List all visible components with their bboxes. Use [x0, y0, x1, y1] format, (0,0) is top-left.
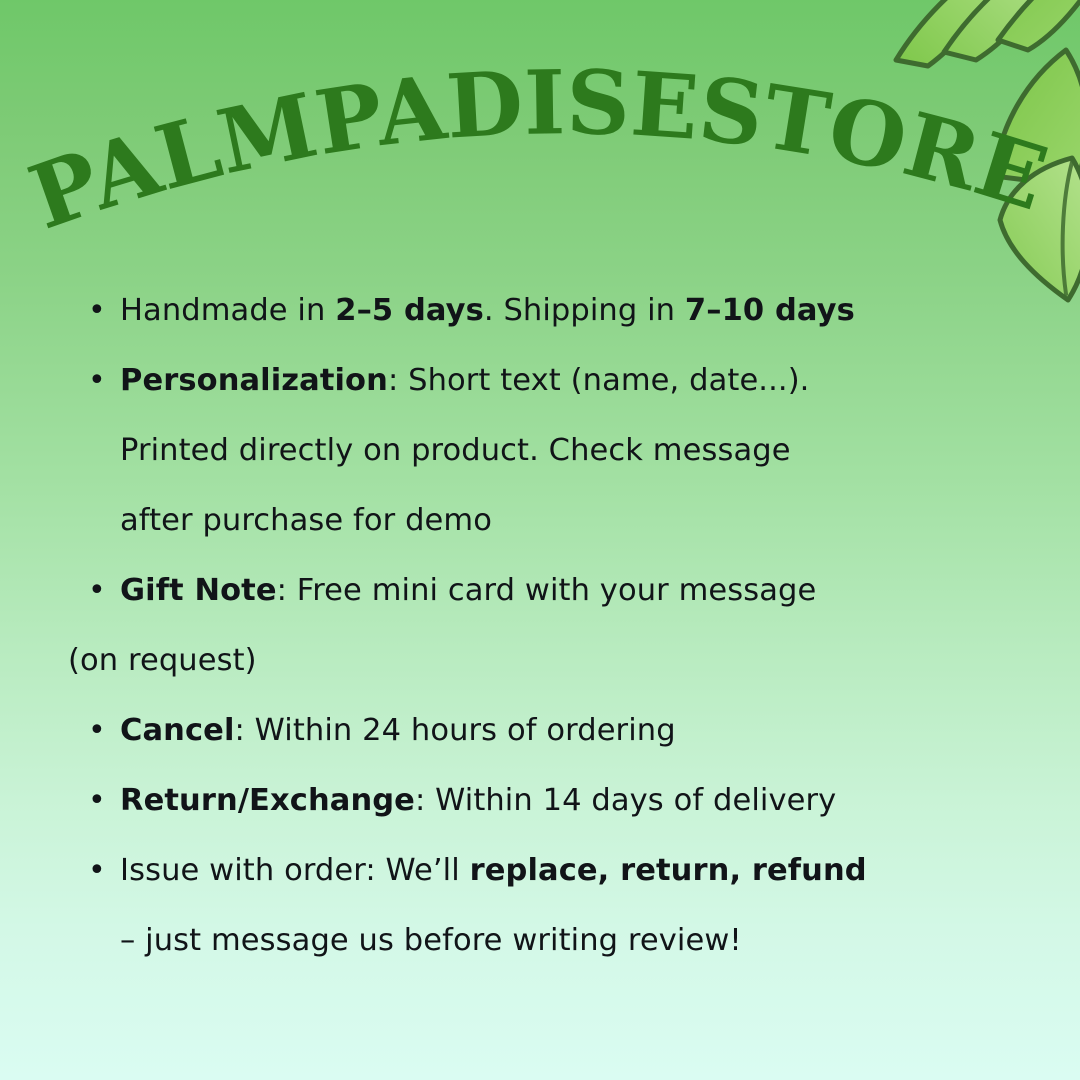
policy-text: : Free mini card with your message	[277, 573, 817, 608]
policy-text-emphasis: Personalization	[120, 363, 388, 398]
policy-wrap-line-flush: (on request)	[58, 626, 1026, 696]
policy-text: : Short text (name, date...).	[388, 363, 810, 398]
policy-text: after purchase for demo	[120, 503, 492, 538]
policy-text: . Shipping in	[484, 293, 685, 328]
policy-text: : Within 14 days of delivery	[415, 783, 836, 818]
policy-text: (on request)	[68, 643, 257, 678]
bullet-dot-icon: •	[88, 836, 106, 906]
policy-text: Handmade in	[120, 293, 335, 328]
policy-text: Issue with order: We’ll	[120, 853, 470, 888]
policy-card: PALMPADISESTORE •Handmade in 2–5 days. S…	[0, 0, 1080, 1080]
list-item: •Gift Note: Free mini card with your mes…	[58, 556, 1026, 696]
bullet-dot-icon: •	[88, 346, 106, 416]
list-item: •Issue with order: We’ll replace, return…	[58, 836, 1026, 976]
list-item: •Personalization: Short text (name, date…	[58, 346, 1026, 556]
shop-title-textpath: PALMPADISESTORE	[17, 52, 1059, 242]
policy-bullet-line: •Gift Note: Free mini card with your mes…	[58, 556, 1026, 626]
policy-text-emphasis: Gift Note	[120, 573, 277, 608]
policy-text-emphasis: Return/Exchange	[120, 783, 415, 818]
policy-wrap-line: after purchase for demo	[58, 486, 1026, 556]
policy-bullet-line: •Return/Exchange: Within 14 days of deli…	[58, 766, 1026, 836]
list-item: •Handmade in 2–5 days. Shipping in 7–10 …	[58, 276, 1026, 346]
policy-bullet-line: •Cancel: Within 24 hours of ordering	[58, 696, 1026, 766]
shop-title-text: PALMPADISESTORE	[17, 52, 1059, 242]
policy-text-emphasis: replace, return, refund	[470, 853, 867, 888]
policy-list: •Handmade in 2–5 days. Shipping in 7–10 …	[58, 276, 1026, 976]
policy-wrap-line: – just message us before writing review!	[58, 906, 1026, 976]
page-title: PALMPADISESTORE	[0, 52, 1080, 242]
policy-text-emphasis: 7–10 days	[685, 293, 855, 328]
bullet-dot-icon: •	[88, 696, 106, 766]
bullet-dot-icon: •	[88, 276, 106, 346]
policy-text-emphasis: 2–5 days	[335, 293, 484, 328]
policy-bullet-line: •Personalization: Short text (name, date…	[58, 346, 1026, 416]
list-item: •Cancel: Within 24 hours of ordering	[58, 696, 1026, 766]
policy-bullet-line: •Handmade in 2–5 days. Shipping in 7–10 …	[58, 276, 1026, 346]
policy-wrap-line: Printed directly on product. Check messa…	[58, 416, 1026, 486]
policy-text: – just message us before writing review!	[120, 923, 742, 958]
policy-text: : Within 24 hours of ordering	[235, 713, 676, 748]
policy-text: Printed directly on product. Check messa…	[120, 433, 791, 468]
bullet-dot-icon: •	[88, 766, 106, 836]
policy-text-emphasis: Cancel	[120, 713, 235, 748]
list-item: •Return/Exchange: Within 14 days of deli…	[58, 766, 1026, 836]
policy-bullet-line: •Issue with order: We’ll replace, return…	[58, 836, 1026, 906]
bullet-dot-icon: •	[88, 556, 106, 626]
